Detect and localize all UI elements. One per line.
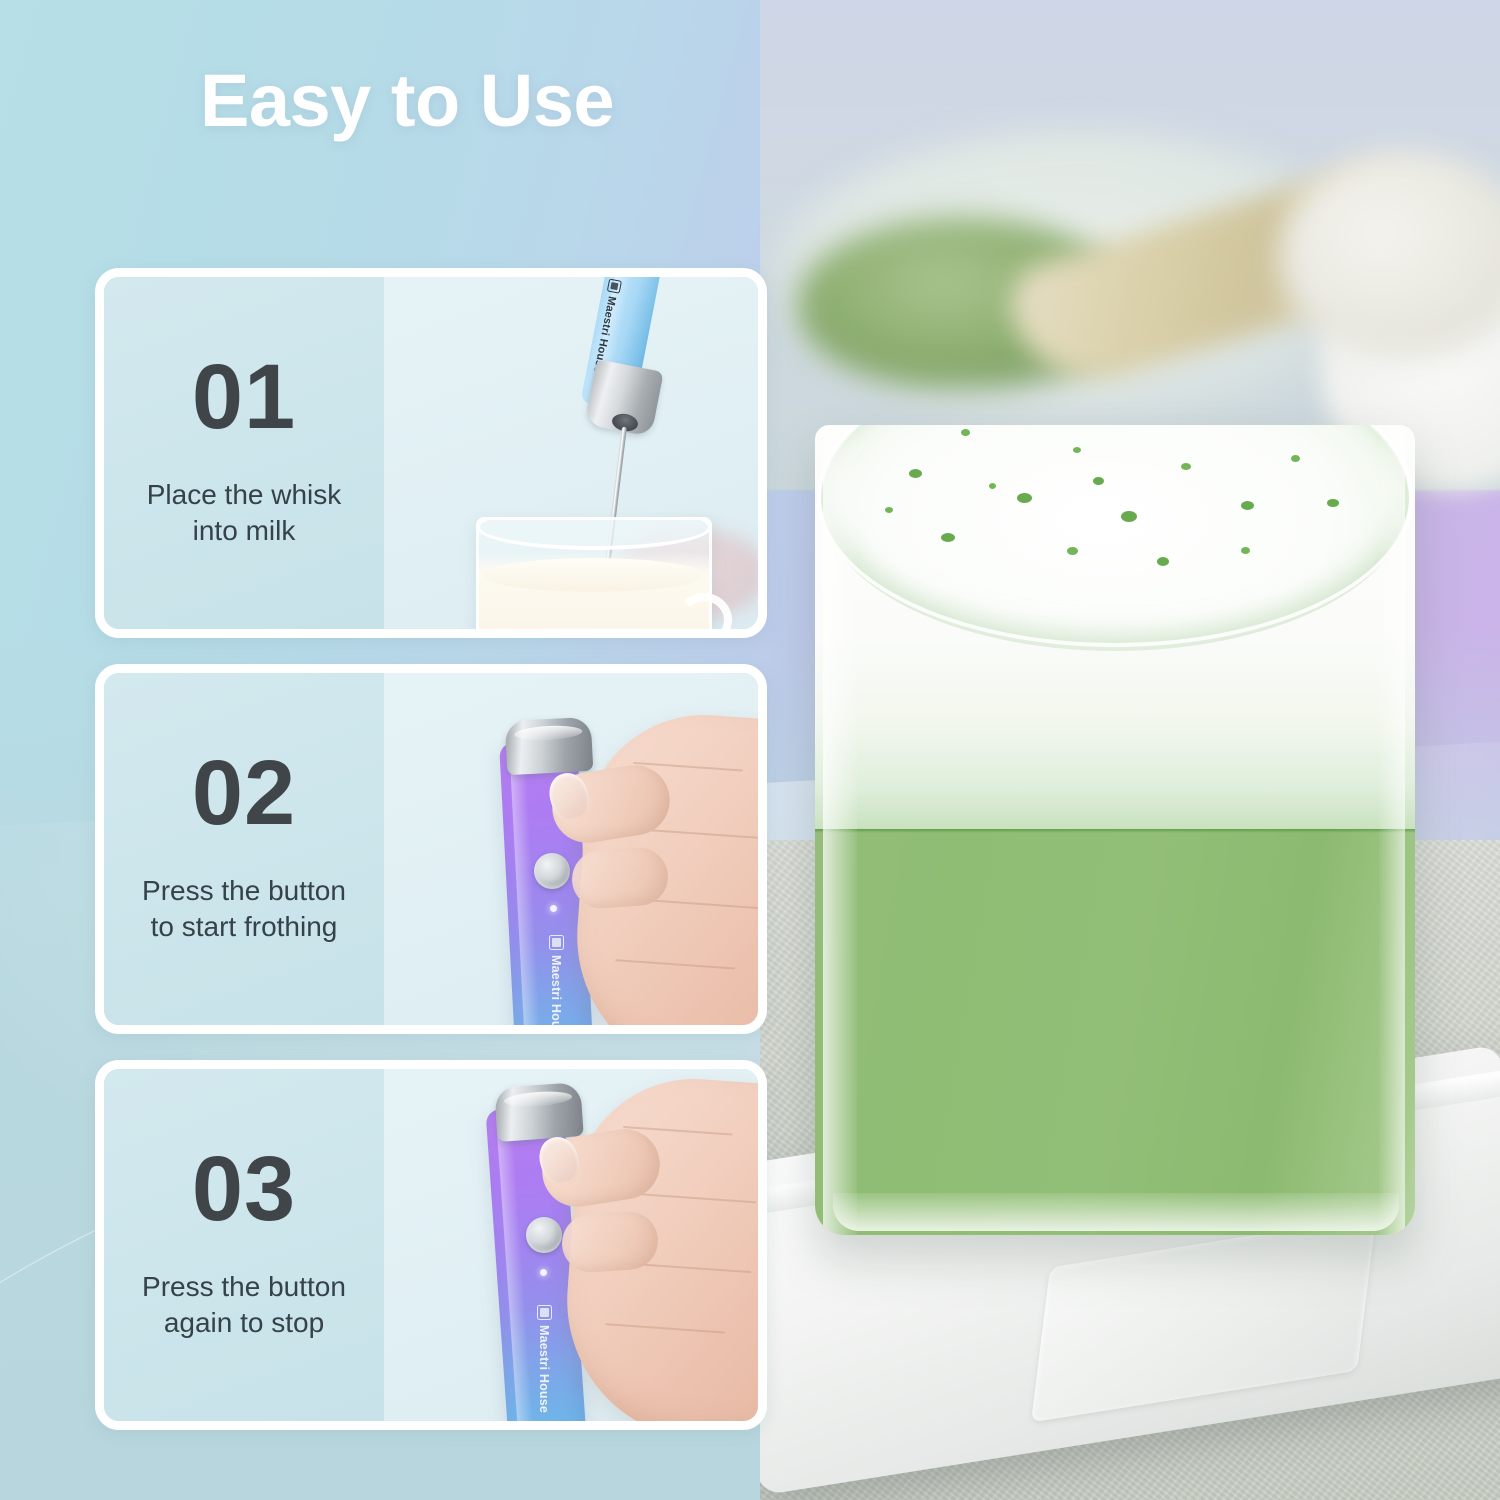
step-description: Press the button again to stop [142, 1269, 346, 1341]
brand-name: Maestri House [550, 955, 564, 1025]
matcha-latte-glass [815, 425, 1415, 1235]
step-photo-panel: Maestri House [384, 1069, 758, 1421]
glass-highlight-left [823, 425, 857, 1235]
milk-liquid [479, 572, 709, 629]
knuckle-crease [615, 959, 735, 969]
knuckle-crease [642, 829, 758, 840]
step-description-line1: Press the button [142, 875, 346, 906]
step-description: Place the whisk into milk [147, 477, 342, 549]
step-number: 03 [192, 1143, 296, 1235]
led-indicator [540, 1269, 547, 1276]
frother-top-cap [494, 1082, 584, 1142]
step-description-line1: Place the whisk [147, 479, 342, 510]
maestri-house-logo-mark-icon [607, 279, 622, 294]
glass-base [833, 1193, 1399, 1231]
step-photo-panel: Maestri House [384, 673, 758, 1025]
glass-rim [476, 517, 712, 550]
step-number: 02 [192, 747, 296, 839]
maestri-house-logo-mark-icon [549, 935, 564, 950]
frother-body-shine [495, 1108, 540, 1421]
frother-top-cap [505, 717, 594, 775]
step-description-line2: again to stop [164, 1307, 324, 1338]
power-button[interactable] [526, 1217, 562, 1253]
led-indicator [550, 905, 557, 912]
step-card-01: 01 Place the whisk into milk Maestri Hou… [95, 268, 767, 638]
brand-logo: Maestri House [537, 1305, 552, 1413]
step-label-panel: 01 Place the whisk into milk [104, 277, 384, 629]
brand-name: Maestri House [538, 1325, 552, 1413]
step-label-panel: 03 Press the button again to stop [104, 1069, 384, 1421]
glass-highlight-right [1379, 425, 1405, 1235]
step-photo-panel: Maestri House [384, 277, 758, 629]
power-button[interactable] [534, 853, 570, 889]
brand-logo: Maestri House [549, 935, 564, 1025]
step-card-02: 02 Press the button to start frothing Ma… [95, 664, 767, 1034]
index-finger [560, 1210, 660, 1275]
tray-embossed-panel [1031, 1216, 1376, 1423]
milk-surface [483, 558, 703, 592]
page-title: Easy to Use [200, 62, 614, 140]
matcha-latte-photo [760, 0, 1500, 1500]
step-label-panel: 02 Press the button to start frothing [104, 673, 384, 1025]
index-finger [570, 846, 670, 911]
step-description: Press the button to start frothing [142, 873, 346, 945]
knuckle-crease [632, 1193, 756, 1204]
knuckle-crease [605, 1323, 725, 1333]
step-number: 01 [192, 351, 296, 443]
step-description-line2: to start frothing [151, 911, 338, 942]
step-description-line2: into milk [193, 515, 296, 546]
step-description-line1: Press the button [142, 1271, 346, 1302]
step-card-03: 03 Press the button again to stop Maestr… [95, 1060, 767, 1430]
maestri-house-logo-mark-icon [537, 1305, 552, 1320]
